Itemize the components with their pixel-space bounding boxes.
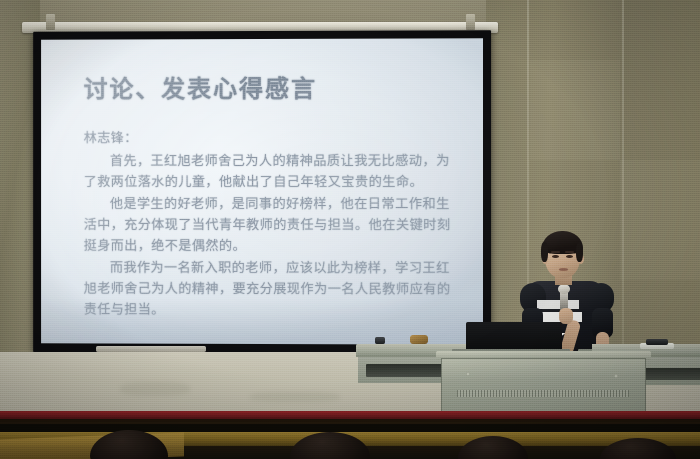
roller-bracket-right bbox=[466, 14, 475, 30]
shirt-graphic-bar-top bbox=[537, 300, 579, 309]
presenter-eye-left bbox=[552, 255, 559, 258]
presenter-brow-left bbox=[551, 251, 560, 253]
slide-title: 讨论、发表心得感言 bbox=[84, 77, 457, 104]
wall-red-stripe bbox=[0, 411, 700, 419]
presenter-brow-right bbox=[565, 251, 574, 253]
wall-panel-patch-2 bbox=[530, 60, 620, 160]
slide-speaker-label: 林志锋： bbox=[84, 127, 457, 149]
lectern-screw-left bbox=[466, 372, 470, 376]
presenter-mouth bbox=[559, 268, 568, 271]
classroom-scene: 讨论、发表心得感言 林志锋： 首先，王红旭老师舍己为人的精神品质让我无比感动，为… bbox=[0, 0, 700, 459]
slide-paragraph-2: 他是学生的好老师，是同事的好榜样，他在日常工作和生活中，充分体现了当代青年教师的… bbox=[84, 193, 457, 257]
roller-bracket-left bbox=[46, 14, 55, 30]
lectern-screw-right bbox=[614, 374, 618, 378]
slide-body: 林志锋： 首先，王红旭老师舍己为人的精神品质让我无比感动，为了救两位落水的儿童，… bbox=[84, 127, 457, 321]
wall-smudge bbox=[120, 382, 190, 396]
lectern-vent-upper bbox=[457, 390, 629, 397]
desk-prop-dark-object bbox=[375, 337, 385, 344]
bench-shadow bbox=[0, 424, 700, 432]
wall-panel-patch bbox=[620, 160, 700, 280]
presenter-hair-side-right bbox=[576, 242, 583, 262]
slide-paragraph-1: 首先，王红旭老师舍己为人的精神品质让我无比感动，为了救两位落水的儿童，他献出了自… bbox=[84, 150, 457, 193]
desk-prop-phone bbox=[646, 339, 668, 345]
side-desk-right-opening bbox=[646, 368, 700, 380]
wall-smudge-2 bbox=[250, 392, 340, 402]
presenter-hair-side-left bbox=[541, 242, 548, 262]
projection-screen: 讨论、发表心得感言 林志锋： 首先，王红旭老师舍己为人的精神品质让我无比感动，为… bbox=[33, 30, 491, 354]
microphone-head-icon bbox=[558, 284, 570, 294]
desk-prop-brown-object bbox=[410, 335, 428, 344]
projection-surface: 讨论、发表心得感言 林志锋： 首先，王红旭老师舍己为人的精神品质让我无比感动，为… bbox=[41, 38, 483, 344]
presenter-eye-right bbox=[566, 255, 573, 258]
